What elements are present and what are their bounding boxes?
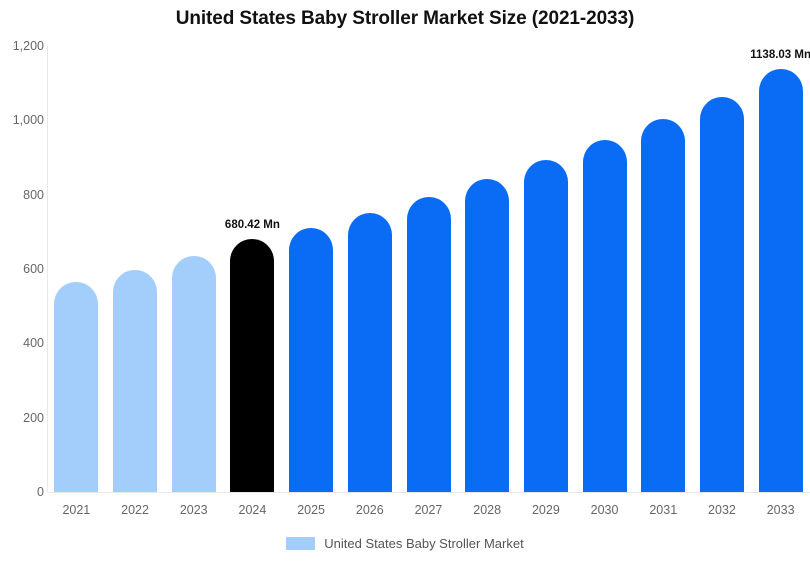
bar-2029[interactable] xyxy=(524,160,568,492)
chart-title: United States Baby Stroller Market Size … xyxy=(0,8,810,30)
bar-2022[interactable] xyxy=(113,270,157,492)
bar-column[interactable] xyxy=(641,46,685,492)
x-axis-tick-2030: 2030 xyxy=(575,503,634,517)
bar-column[interactable] xyxy=(113,46,157,492)
x-axis-tick-2027: 2027 xyxy=(399,503,458,517)
bar-2023[interactable] xyxy=(172,256,216,492)
bar-column[interactable] xyxy=(700,46,744,492)
bar-2032[interactable] xyxy=(700,97,744,492)
y-axis-tick-labels: 02004006008001,0001,200 xyxy=(0,0,44,562)
bar-column[interactable] xyxy=(407,46,451,492)
bar-column[interactable] xyxy=(583,46,627,492)
bar-2025[interactable] xyxy=(289,228,333,492)
y-axis-tick: 1,000 xyxy=(2,113,44,127)
x-axis-tick-2026: 2026 xyxy=(340,503,399,517)
x-axis-tick-2028: 2028 xyxy=(458,503,517,517)
x-axis-tick-2031: 2031 xyxy=(634,503,693,517)
x-axis-tick-2032: 2032 xyxy=(693,503,752,517)
y-axis-tick: 0 xyxy=(2,485,44,499)
y-axis-tick: 200 xyxy=(2,411,44,425)
x-axis-tick-2033: 2033 xyxy=(751,503,810,517)
bar-2024[interactable] xyxy=(230,239,274,492)
legend-swatch-icon xyxy=(286,537,315,550)
legend-label: United States Baby Stroller Market xyxy=(324,536,523,551)
plot-area: 680.42 Mn1138.03 Mn xyxy=(47,46,810,492)
bar-column[interactable] xyxy=(289,46,333,492)
bar-chart: United States Baby Stroller Market Size … xyxy=(0,0,810,562)
bar-value-label-2033: 1138.03 Mn xyxy=(741,49,810,61)
x-axis-tick-2024: 2024 xyxy=(223,503,282,517)
x-axis-tick-2022: 2022 xyxy=(106,503,165,517)
bar-2028[interactable] xyxy=(465,179,509,492)
x-axis-line xyxy=(47,492,810,493)
bar-column[interactable] xyxy=(759,46,803,492)
bar-2033[interactable] xyxy=(759,69,803,492)
bar-2026[interactable] xyxy=(348,213,392,492)
x-axis-tick-2029: 2029 xyxy=(517,503,576,517)
y-axis-tick: 1,200 xyxy=(2,39,44,53)
y-axis-tick: 800 xyxy=(2,188,44,202)
y-axis-tick: 600 xyxy=(2,262,44,276)
x-axis-tick-2025: 2025 xyxy=(282,503,341,517)
bar-value-label-2024: 680.42 Mn xyxy=(212,219,292,231)
bar-column[interactable] xyxy=(348,46,392,492)
bar-2030[interactable] xyxy=(583,140,627,492)
bar-column[interactable] xyxy=(172,46,216,492)
bar-column[interactable] xyxy=(230,46,274,492)
bar-2031[interactable] xyxy=(641,119,685,492)
bar-column[interactable] xyxy=(524,46,568,492)
bar-2021[interactable] xyxy=(54,282,98,492)
chart-legend: United States Baby Stroller Market xyxy=(0,536,810,551)
x-axis-tick-2023: 2023 xyxy=(164,503,223,517)
x-axis-tick-2021: 2021 xyxy=(47,503,106,517)
bar-column[interactable] xyxy=(465,46,509,492)
bar-column[interactable] xyxy=(54,46,98,492)
bar-2027[interactable] xyxy=(407,197,451,492)
y-axis-tick: 400 xyxy=(2,336,44,350)
